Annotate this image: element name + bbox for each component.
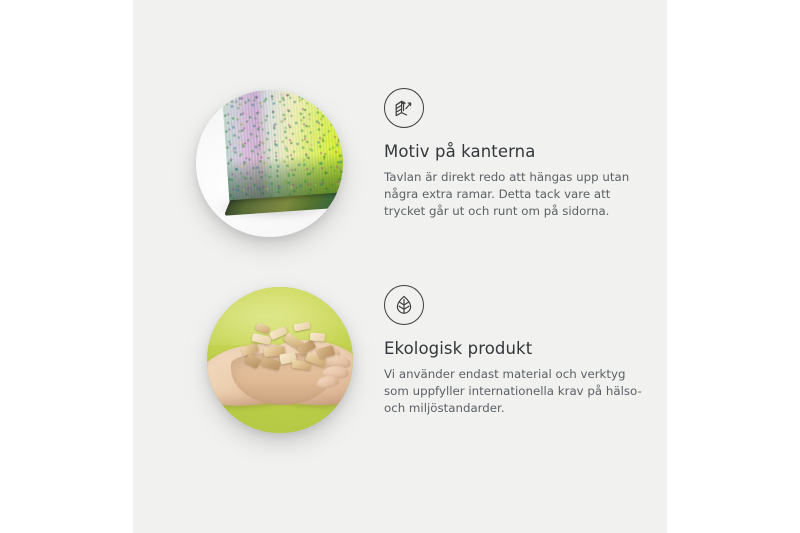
canvas-artwork-face bbox=[221, 90, 343, 208]
feature-block-edges: Motiv på kanterna Tavlan är direkt redo … bbox=[133, 78, 667, 253]
canvas-block bbox=[221, 90, 343, 224]
canvas-print-corner-photo bbox=[196, 90, 343, 237]
eco-photo-scene bbox=[207, 287, 353, 433]
feature-title: Ekologisk produkt bbox=[384, 340, 664, 359]
hands-holding-wood-chips-photo bbox=[207, 287, 353, 433]
leaf-icon bbox=[384, 285, 424, 325]
canvas-wrapped-edges-icon bbox=[384, 88, 424, 128]
content-panel: Motiv på kanterna Tavlan är direkt redo … bbox=[133, 0, 667, 533]
canvas-wrapped-edges-glyph bbox=[392, 96, 416, 120]
canvas-paint-texture bbox=[221, 90, 343, 208]
product-feature-banner: Motiv på kanterna Tavlan är direkt redo … bbox=[0, 0, 800, 533]
feature-text-edges: Motiv på kanterna Tavlan är direkt redo … bbox=[384, 88, 664, 220]
wood-chip-pile bbox=[240, 323, 332, 375]
feature-title: Motiv på kanterna bbox=[384, 143, 664, 162]
feature-description: Tavlan är direkt redo att hängas upp uta… bbox=[384, 169, 652, 220]
canvas-photo-scene bbox=[196, 90, 343, 237]
feature-description: Vi använder endast material och verktyg … bbox=[384, 366, 652, 417]
feature-text-eco: Ekologisk produkt Vi använder endast mat… bbox=[384, 285, 664, 417]
feature-block-eco: Ekologisk produkt Vi använder endast mat… bbox=[133, 275, 667, 450]
leaf-glyph bbox=[392, 293, 416, 317]
